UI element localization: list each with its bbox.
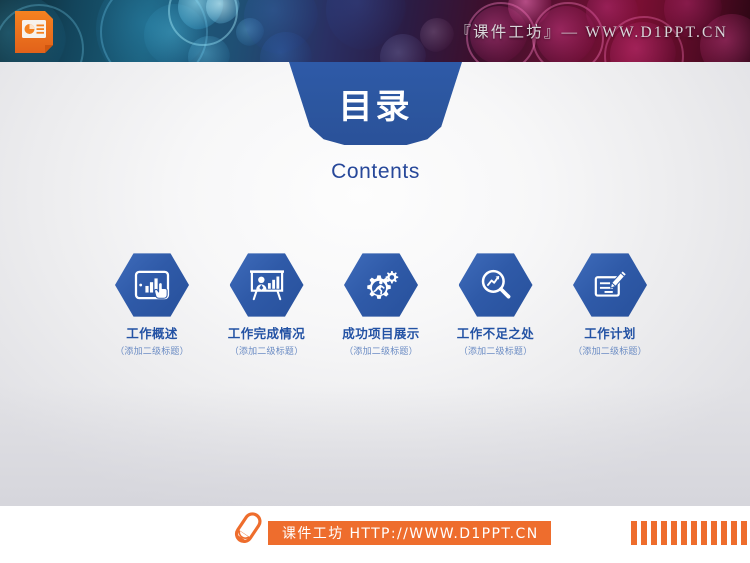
content-item-sublabel: （添加二级标题）: [115, 344, 189, 357]
stripe: [701, 521, 707, 545]
footer-url-text: 课件工坊 HTTP://WWW.D1PPT.CN: [282, 523, 539, 543]
stripe: [661, 521, 667, 545]
hex-badge[interactable]: [344, 252, 418, 318]
bokeh-circle: [96, 0, 206, 62]
bokeh-circle: [100, 0, 208, 62]
stripe: [721, 521, 727, 545]
stripe: [711, 521, 717, 545]
stripe: [671, 521, 677, 545]
content-item-sublabel: （添加二级标题）: [459, 344, 533, 357]
content-item-label: 工作概述: [126, 327, 178, 341]
stripe: [631, 521, 637, 545]
bokeh-circle: [236, 18, 264, 46]
ppt-logo-icon[interactable]: [11, 9, 57, 55]
bokeh-circle: [420, 18, 454, 52]
stripe: [691, 521, 697, 545]
tablet-bar-chart-hand-icon: [115, 252, 189, 318]
content-item-label: 成功项目展示: [342, 327, 419, 341]
content-item-label: 工作完成情况: [228, 327, 305, 341]
content-item-label: 工作不足之处: [457, 327, 534, 341]
bokeh-circle: [178, 0, 224, 30]
hex-badge[interactable]: [459, 252, 533, 318]
brand-text: 『课件工坊』— WWW.D1PPT.CN: [455, 20, 728, 42]
pencil-icon: [226, 509, 266, 553]
presenter-board-chart-icon: [230, 252, 304, 318]
footer-url-bar: 课件工坊 HTTP://WWW.D1PPT.CN: [268, 521, 551, 545]
content-item-sublabel: （添加二级标题）: [230, 344, 304, 357]
bokeh-circle: [188, 36, 230, 62]
bokeh-circle: [326, 0, 406, 50]
content-item-1[interactable]: 工作概述 （添加二级标题）: [96, 252, 208, 387]
stripe: [741, 521, 747, 545]
stripe: [681, 521, 687, 545]
bokeh-circle: [144, 4, 206, 62]
stripe: [731, 521, 737, 545]
magnifier-trend-line-icon: [459, 252, 533, 318]
content-item-4[interactable]: 工作不足之处 （添加二级标题）: [440, 252, 552, 387]
document-pen-icon: [573, 252, 647, 318]
hex-badge[interactable]: [115, 252, 189, 318]
footer-stripes: [631, 521, 750, 545]
bokeh-circle: [206, 0, 240, 24]
bokeh-circle: [244, 0, 318, 54]
content-item-label: 工作计划: [584, 327, 636, 341]
gears-running-person-icon: [344, 252, 418, 318]
bokeh-circle: [260, 32, 312, 62]
content-item-sublabel: （添加二级标题）: [573, 344, 647, 357]
content-item-sublabel: （添加二级标题）: [344, 344, 418, 357]
stripe: [641, 521, 647, 545]
slide: 『课件工坊』— WWW.D1PPT.CN 目录 Contents: [0, 0, 750, 563]
page-subtitle: Contents: [289, 160, 462, 184]
bokeh-circle: [380, 34, 426, 62]
header-banner: 『课件工坊』— WWW.D1PPT.CN: [0, 0, 750, 62]
page-title: 目录: [289, 90, 462, 124]
title-banner: 目录: [289, 62, 462, 145]
stripe: [651, 521, 657, 545]
hex-badge[interactable]: [230, 252, 304, 318]
hex-badge[interactable]: [573, 252, 647, 318]
content-item-5[interactable]: 工作计划 （添加二级标题）: [554, 252, 666, 387]
content-item-2[interactable]: 工作完成情况 （添加二级标题）: [211, 252, 323, 387]
content-item-3[interactable]: 成功项目展示 （添加二级标题）: [325, 252, 437, 387]
contents-list: 工作概述 （添加二级标题）: [96, 252, 666, 387]
bokeh-circle: [168, 0, 238, 46]
